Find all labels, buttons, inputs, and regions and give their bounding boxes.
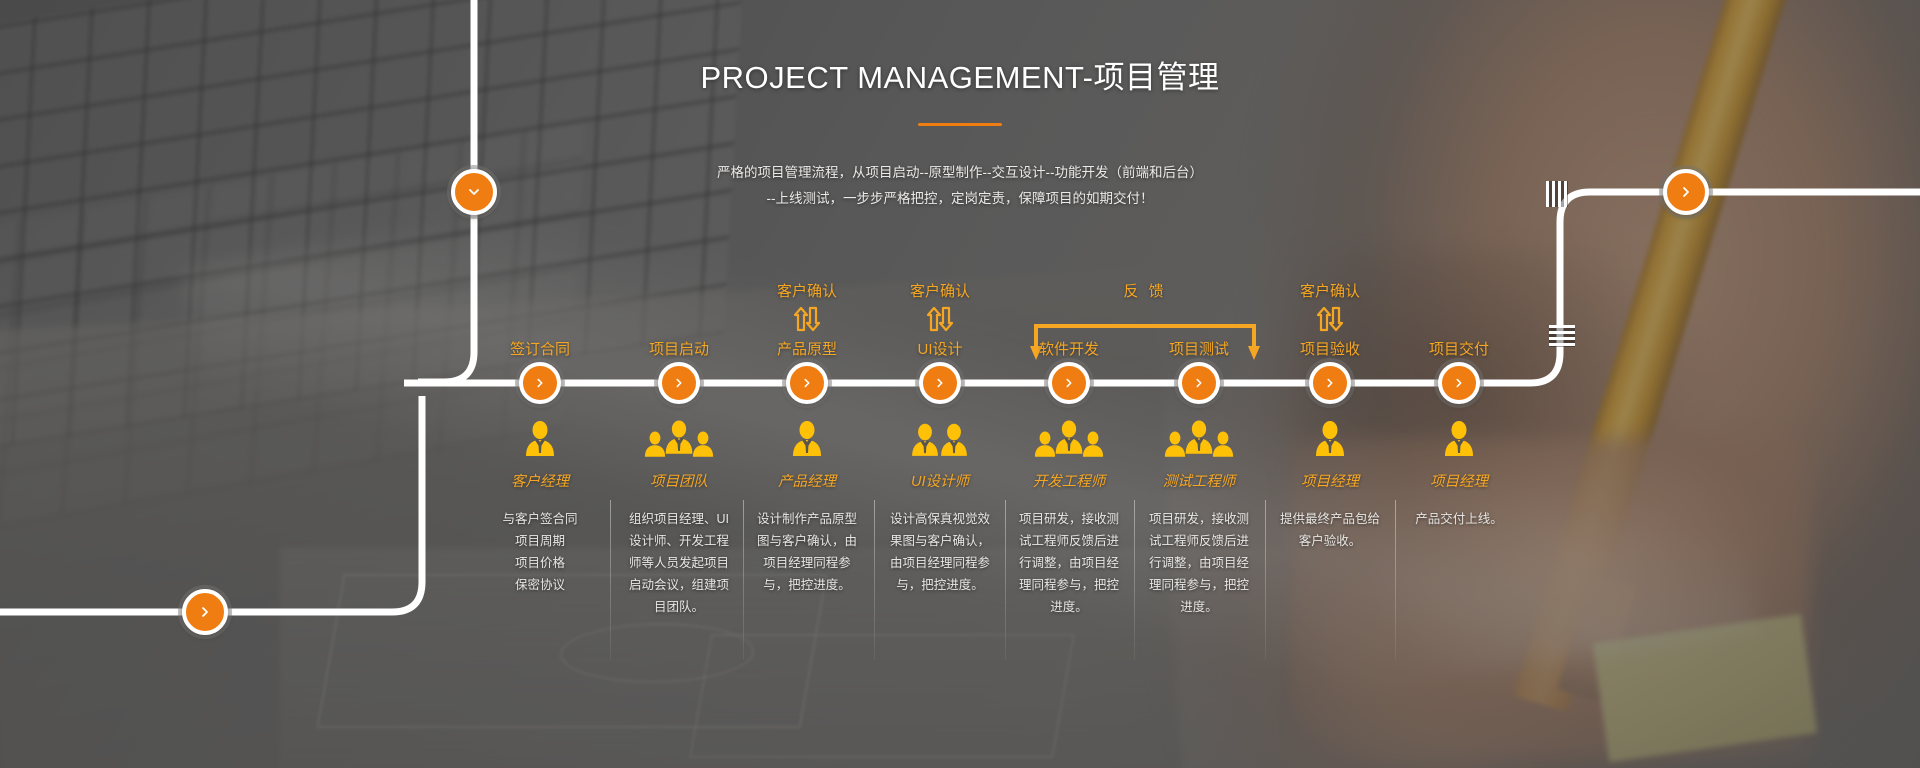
stage-label: 软件开发 [999, 338, 1139, 359]
chevron-right-icon [673, 377, 685, 389]
role-avatar [999, 412, 1139, 464]
column-divider [743, 500, 744, 660]
role-avatar [609, 412, 749, 464]
stage-label: 产品原型 [737, 338, 877, 359]
chevron-right-icon [1453, 377, 1465, 389]
step-description: 设计制作产品原型图与客户确认，由项目经理同程参与，把控进度。 [755, 508, 859, 596]
role-label: 测试工程师 [1129, 470, 1269, 491]
timeline-node-6[interactable] [1178, 362, 1220, 404]
stage-label: 项目测试 [1129, 338, 1269, 359]
role-avatar [1260, 412, 1400, 464]
stage-label: UI设计 [870, 338, 1010, 359]
person-icon-1 [1310, 416, 1350, 464]
step-description: 设计高保真视觉效果图与客户确认，由项目经理同程参与，把控进度。 [888, 508, 992, 596]
up-down-arrows-icon [1315, 306, 1345, 332]
chevron-right-icon [1063, 377, 1075, 389]
role-avatar [737, 412, 877, 464]
chevron-right-icon [1324, 377, 1336, 389]
person-icon-1 [787, 416, 827, 464]
stage-label: 项目启动 [609, 338, 749, 359]
column-divider [1265, 500, 1266, 660]
column-divider [610, 500, 611, 660]
confirm-arrows [870, 306, 1010, 332]
customer-confirm-label: 客户确认 [1260, 280, 1400, 301]
step-description: 提供最终产品包给客户验收。 [1278, 508, 1382, 552]
timeline: 签订合同客户经理与客户签合同 项目周期 项目价格 保密协议项目启动项目团队组织项… [0, 0, 1920, 768]
confirm-arrows [737, 306, 877, 332]
person-icon-3 [1031, 416, 1107, 464]
person-icon-3 [1161, 416, 1237, 464]
chevron-right-icon [1193, 377, 1205, 389]
column-divider [1395, 500, 1396, 660]
timeline-node-3[interactable] [786, 362, 828, 404]
role-label: 开发工程师 [999, 470, 1139, 491]
chevron-right-icon [934, 377, 946, 389]
stage-label: 签订合同 [470, 338, 610, 359]
role-avatar [1389, 412, 1529, 464]
timeline-node-4[interactable] [919, 362, 961, 404]
timeline-node-5[interactable] [1048, 362, 1090, 404]
step-description: 与客户签合同 项目周期 项目价格 保密协议 [488, 508, 592, 596]
step-description: 项目研发，接收测试工程师反馈后进行调整，由项目经理同程参与，把控进度。 [1147, 508, 1251, 618]
chevron-right-icon [534, 377, 546, 389]
column-divider [1134, 500, 1135, 660]
customer-confirm-label: 客户确认 [870, 280, 1010, 301]
slide-root: PROJECT MANAGEMENT-项目管理 严格的项目管理流程，从项目启动-… [0, 0, 1920, 768]
up-down-arrows-icon [792, 306, 822, 332]
role-label: 项目经理 [1389, 470, 1529, 491]
timeline-node-7[interactable] [1309, 362, 1351, 404]
role-label: 项目经理 [1260, 470, 1400, 491]
up-down-arrows-icon [925, 306, 955, 332]
person-icon-3 [641, 416, 717, 464]
chevron-right-icon [801, 377, 813, 389]
role-label: 客户经理 [470, 470, 610, 491]
role-label: 项目团队 [609, 470, 749, 491]
column-divider [1005, 500, 1006, 660]
person-icon-2 [909, 416, 971, 464]
person-icon-1 [1439, 416, 1479, 464]
stage-label: 项目验收 [1260, 338, 1400, 359]
role-label: 产品经理 [737, 470, 877, 491]
step-description: 组织项目经理、UI设计师、开发工程师等人员发起项目启动会议，组建项目团队。 [627, 508, 731, 618]
person-icon-1 [520, 416, 560, 464]
timeline-node-2[interactable] [658, 362, 700, 404]
timeline-node-1[interactable] [519, 362, 561, 404]
column-divider [874, 500, 875, 660]
timeline-node-8[interactable] [1438, 362, 1480, 404]
role-avatar [870, 412, 1010, 464]
step-description: 产品交付上线。 [1407, 508, 1511, 530]
confirm-arrows [1260, 306, 1400, 332]
customer-confirm-label: 客户确认 [737, 280, 877, 301]
step-description: 项目研发，接收测试工程师反馈后进行调整，由项目经理同程参与，把控进度。 [1017, 508, 1121, 618]
role-avatar [1129, 412, 1269, 464]
role-label: UI设计师 [870, 470, 1010, 491]
role-avatar [470, 412, 610, 464]
stage-label: 项目交付 [1389, 338, 1529, 359]
